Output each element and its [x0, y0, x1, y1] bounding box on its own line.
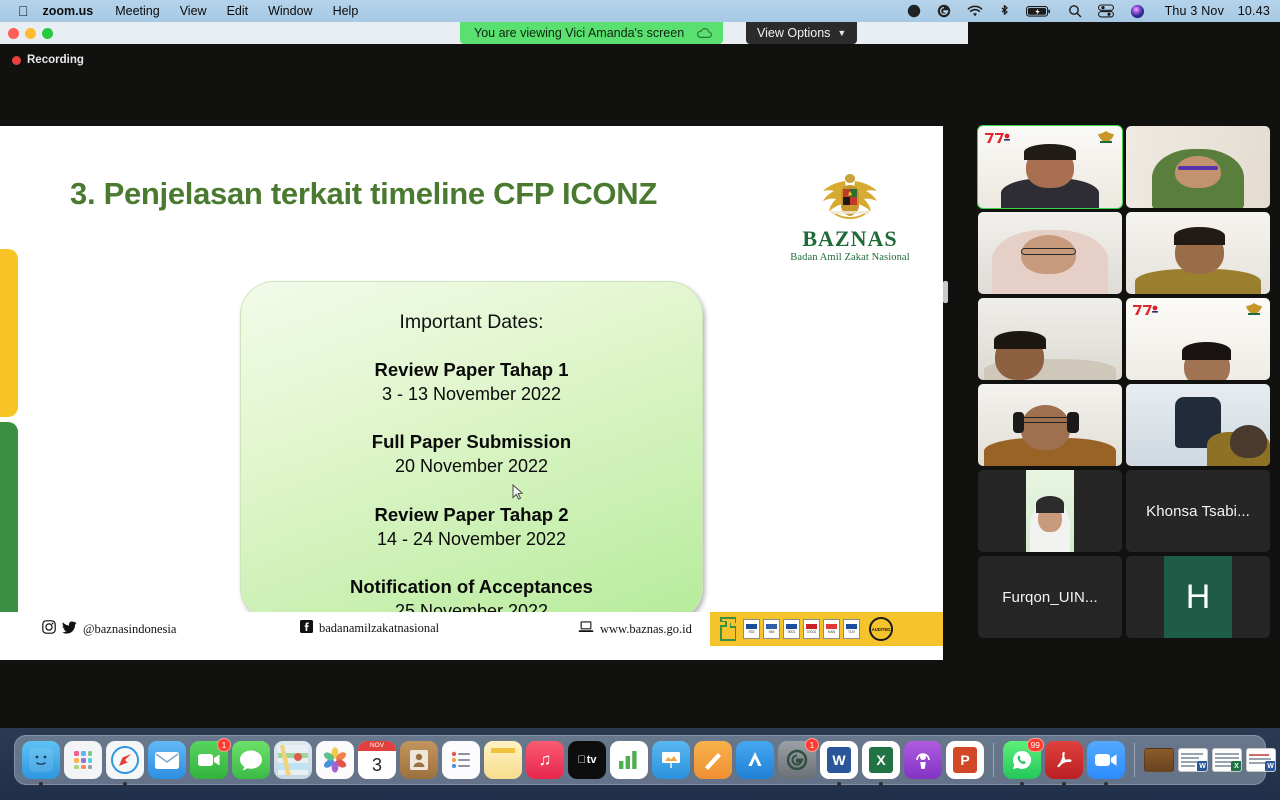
whatsapp-icon[interactable]: 99: [1003, 741, 1041, 779]
participant-name-label: Furqon_UIN...: [1002, 589, 1098, 606]
macos-menu-bar:  zoom.us Meeting View Edit Window Help …: [0, 0, 1280, 22]
participant-video: [978, 298, 1122, 380]
control-center-icon[interactable]: [1098, 4, 1114, 18]
participant-tile-3[interactable]: [978, 212, 1122, 294]
facebook-icon: [300, 620, 313, 637]
participant-avatar-initial: H: [1164, 556, 1232, 638]
calendar-day-label: 3: [372, 751, 382, 779]
participant-glasses: [1021, 248, 1076, 255]
footer-social-label: badanamilzakatnasional: [319, 621, 439, 636]
macos-dock: 1 NOV3 ♫ tv 1 W X P 99 W X W A S W X W …: [14, 735, 1266, 785]
participant-tile-11[interactable]: Furqon_UIN...: [978, 556, 1122, 638]
participant-video-portrait: [1026, 470, 1074, 552]
iso-37001-badge: 37001: [803, 619, 820, 639]
app-running-dot: [837, 782, 841, 786]
app-running-dot: [1020, 782, 1024, 786]
word-icon[interactable]: W: [820, 741, 858, 779]
date-entry-label: Full Paper Submission: [241, 430, 702, 454]
footer-website-label: www.baznas.go.id: [600, 622, 692, 637]
menu-item-view[interactable]: View: [180, 4, 207, 18]
grammarly-badge: 1: [805, 738, 819, 752]
participant-hair: [994, 331, 1046, 349]
close-button[interactable]: [8, 28, 19, 39]
word-overlay: W: [1197, 761, 1208, 772]
participant-tile-10[interactable]: Khonsa Tsabi...: [1126, 470, 1270, 552]
music-icon[interactable]: ♫: [526, 741, 564, 779]
date-entry-1: Review Paper Tahap 1 3 - 13 November 202…: [241, 358, 702, 406]
view-options-button[interactable]: View Options ▼: [746, 22, 857, 44]
tuv-badge: TUV: [843, 619, 860, 639]
keynote-icon[interactable]: [652, 741, 690, 779]
recording-label: Recording: [27, 54, 84, 66]
slide-title: 3. Penjelasan terkait timeline CFP ICONZ: [70, 176, 690, 213]
menu-bar-clock[interactable]: Thu 3 Nov 10.43: [1165, 4, 1270, 18]
participant-hair: [1024, 144, 1076, 160]
instagram-icon: [42, 620, 56, 638]
important-dates-heading: Important Dates:: [241, 311, 702, 334]
indonesia-77-logo-icon: [1132, 303, 1158, 315]
appletv-icon[interactable]: tv: [568, 741, 606, 779]
reminders-icon[interactable]: [442, 741, 480, 779]
notes-icon[interactable]: [484, 741, 522, 779]
dock-divider: [993, 743, 994, 777]
iso-badge: ISO: [743, 619, 760, 639]
footer-social-instagram-twitter: @baznasindonesia: [42, 620, 176, 638]
wifi-icon[interactable]: [967, 5, 983, 18]
app-running-dot: [123, 782, 127, 786]
garuda-crest-icon: [782, 164, 918, 226]
participant-video: [1126, 298, 1270, 380]
twitter-icon: [62, 621, 77, 638]
excel-overlay: X: [1231, 761, 1242, 772]
menu-bar-time: 10.43: [1238, 4, 1270, 18]
apple-menu-icon[interactable]: : [18, 4, 29, 18]
indonesia-77-logo-icon: [984, 131, 1010, 143]
participant-tile-8[interactable]: [1126, 384, 1270, 466]
sni-badge: SNI: [763, 619, 780, 639]
app-running-dot: [1062, 782, 1066, 786]
date-entry-label: Notification of Acceptances: [241, 575, 702, 599]
zoom-button[interactable]: [42, 28, 53, 39]
panel-resize-handle[interactable]: [943, 281, 948, 303]
mail-icon[interactable]: [148, 741, 186, 779]
excel-glyph: X: [869, 747, 893, 773]
participant-tile-4[interactable]: [1126, 212, 1270, 294]
battery-charging-icon[interactable]: [1026, 5, 1052, 18]
do-not-disturb-icon[interactable]: [907, 4, 921, 18]
participant-face: [1021, 405, 1070, 449]
zoom-icon[interactable]: [1087, 741, 1125, 779]
calendar-month-label: NOV: [358, 741, 396, 751]
shared-screen-slide[interactable]: 3. Penjelasan terkait timeline CFP ICONZ: [0, 126, 943, 660]
participant-tile-7[interactable]: [978, 384, 1122, 466]
participant-hair: [1174, 227, 1226, 245]
footer-social-facebook: badanamilzakatnasional: [300, 620, 439, 637]
menu-item-window[interactable]: Window: [268, 4, 312, 18]
calendar-icon[interactable]: NOV3: [358, 741, 396, 779]
launchpad-icon[interactable]: [64, 741, 102, 779]
photos-icon[interactable]: [316, 741, 354, 779]
date-entry-label: Review Paper Tahap 2: [241, 503, 702, 527]
menu-item-meeting[interactable]: Meeting: [115, 4, 159, 18]
participant-head: [1230, 425, 1267, 458]
date-entry-value: 14 - 24 November 2022: [241, 527, 702, 551]
participant-tile-1[interactable]: [978, 126, 1122, 208]
participant-face: [1175, 156, 1221, 189]
g2-logo-icon: [714, 615, 740, 643]
yellow-accent-bar: [0, 249, 18, 417]
zoom-meeting-window: You are viewing Vici Amanda's screen Vie…: [0, 22, 1280, 728]
excel-icon[interactable]: X: [862, 741, 900, 779]
menu-item-zoomus[interactable]: zoom.us: [43, 4, 94, 18]
grammarly-icon[interactable]: [937, 4, 951, 18]
baznas-subtitle: Badan Amil Zakat Nasional: [782, 252, 918, 263]
kan-badge: KAN: [823, 619, 840, 639]
baznas-wordmark: BAZNAS: [782, 228, 918, 250]
minimize-button[interactable]: [25, 28, 36, 39]
iso-9001-badge: 9001: [783, 619, 800, 639]
minimized-word-doc[interactable]: W: [1246, 748, 1276, 772]
green-accent-bar: [0, 422, 18, 640]
cloud-icon: [696, 27, 713, 40]
screen-share-label: You are viewing Vici Amanda's screen: [474, 26, 684, 40]
app-running-dot: [1104, 782, 1108, 786]
chevron-down-icon: ▼: [837, 28, 846, 38]
numbers-icon[interactable]: [610, 741, 648, 779]
audited-seal-icon: AUDITED: [869, 617, 893, 641]
participant-video: [1126, 126, 1270, 208]
date-entry-value: 20 November 2022: [241, 454, 702, 478]
app-running-dot: [39, 782, 43, 786]
participant-tile-2[interactable]: [1126, 126, 1270, 208]
participant-video: [1126, 384, 1270, 466]
participant-name-label: Khonsa Tsabi...: [1146, 503, 1250, 520]
powerpoint-icon[interactable]: P: [946, 741, 984, 779]
facetime-icon[interactable]: 1: [190, 741, 228, 779]
finder-icon[interactable]: [22, 741, 60, 779]
whatsapp-badge: 99: [1027, 738, 1044, 752]
search-icon[interactable]: [1068, 4, 1082, 18]
participant-video: [978, 126, 1122, 208]
baznas-logo: BAZNAS Badan Amil Zakat Nasional: [782, 164, 918, 263]
view-options-label: View Options: [757, 26, 830, 40]
contacts-icon[interactable]: [400, 741, 438, 779]
minimized-word-doc[interactable]: W: [1178, 748, 1208, 772]
footer-website: www.baznas.go.id: [578, 620, 692, 638]
participant-tile-5[interactable]: [978, 298, 1122, 380]
date-entry-label: Review Paper Tahap 1: [241, 358, 702, 382]
date-entry-3: Review Paper Tahap 2 14 - 24 November 20…: [241, 503, 702, 551]
word-overlay: W: [1265, 761, 1276, 772]
grammarly-icon[interactable]: 1: [778, 741, 816, 779]
safari-icon[interactable]: [106, 741, 144, 779]
acrobat-icon[interactable]: [1045, 741, 1083, 779]
participant-glasses: [1020, 417, 1069, 424]
messages-icon[interactable]: [232, 741, 270, 779]
participant-hair: [1036, 496, 1065, 512]
participant-video: [1126, 212, 1270, 294]
siri-icon[interactable]: [1130, 4, 1145, 19]
recording-indicator[interactable]: Recording: [12, 54, 84, 66]
baznas-logo-icon: [1244, 302, 1264, 316]
app-running-dot: [879, 782, 883, 786]
maps-icon[interactable]: [274, 741, 312, 779]
dock-divider: [1134, 743, 1135, 777]
participant-glasses: [1178, 166, 1218, 170]
baznas-logo-icon: [1096, 130, 1116, 144]
minimized-excel-doc[interactable]: X: [1212, 748, 1242, 772]
bluetooth-icon[interactable]: [999, 4, 1010, 19]
certification-strip: ISO SNI 9001 37001 KAN TUV AUDITED: [710, 612, 943, 646]
participant-gallery: Khonsa Tsabi... Furqon_UIN... H: [978, 126, 1280, 660]
menu-item-help[interactable]: Help: [333, 4, 359, 18]
footer-social-label: @baznasindonesia: [83, 622, 176, 637]
participant-tile-12[interactable]: H: [1126, 556, 1270, 638]
participant-tile-6[interactable]: [1126, 298, 1270, 380]
slide-footer: @baznasindonesia badanamilzakatnasional …: [0, 612, 943, 660]
participant-video: [978, 384, 1122, 466]
participant-video: [978, 212, 1122, 294]
menu-bar-date: Thu 3 Nov: [1165, 4, 1224, 18]
participant-hair: [1182, 342, 1231, 360]
powerpoint-glyph: P: [953, 747, 977, 773]
participant-tile-9[interactable]: [978, 470, 1122, 552]
pages-icon[interactable]: [694, 741, 732, 779]
laptop-icon: [578, 620, 594, 638]
appstore-icon[interactable]: [736, 741, 774, 779]
word-glyph: W: [827, 747, 851, 773]
screen-share-banner: You are viewing Vici Amanda's screen: [460, 22, 723, 44]
date-entry-value: 3 - 13 November 2022: [241, 382, 702, 406]
facetime-badge: 1: [217, 738, 231, 752]
mouse-cursor-icon: [512, 484, 524, 506]
menu-item-edit[interactable]: Edit: [227, 4, 249, 18]
minimized-window-preview[interactable]: [1144, 748, 1174, 772]
headphone-cup-right: [1067, 412, 1079, 433]
important-dates-card: Important Dates: Review Paper Tahap 1 3 …: [240, 281, 703, 621]
date-entry-2: Full Paper Submission 20 November 2022: [241, 430, 702, 478]
podcasts-icon[interactable]: [904, 741, 942, 779]
recording-dot-icon: [12, 56, 21, 65]
